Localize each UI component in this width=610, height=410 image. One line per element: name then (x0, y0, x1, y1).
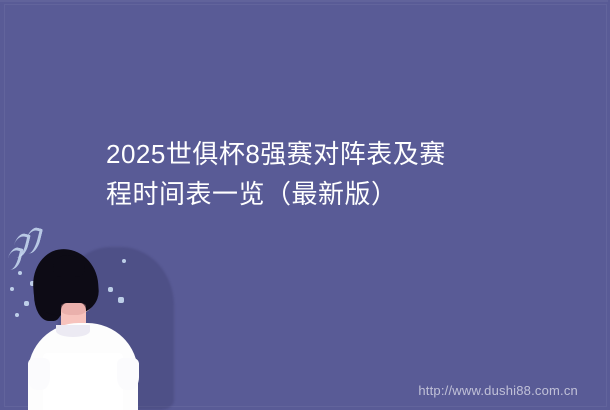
sparkle-dot-icon (118, 297, 124, 303)
title-line-2: 程时间表一览（最新版） (106, 174, 526, 214)
sparkle-dot-icon (108, 287, 113, 292)
sparkle-dot-icon (24, 301, 29, 306)
title-line-1: 2025世俱杯8强赛对阵表及赛 (106, 134, 526, 174)
tshirt-collar (56, 325, 90, 337)
sparkle-squiggle-icon (5, 246, 23, 271)
person-illustration (0, 225, 185, 410)
sparkle-dot-icon (122, 259, 126, 263)
top-edge-line (0, 0, 608, 2)
sparkle-dot-icon (18, 271, 22, 275)
article-cover-image: 2025世俱杯8强赛对阵表及赛 程时间表一览（最新版） http://www.d… (0, 0, 610, 410)
watermark-url: http://www.dushi88.com.cn (418, 383, 578, 398)
tshirt-body (43, 353, 123, 410)
neck-shadow (61, 303, 86, 315)
sleeve-left (28, 358, 50, 390)
sparkle-dot-icon (15, 313, 19, 317)
page-title: 2025世俱杯8强赛对阵表及赛 程时间表一览（最新版） (106, 134, 526, 214)
sleeve-right (117, 358, 139, 390)
sparkle-dot-icon (10, 287, 14, 291)
sparkle-squiggle-icon (23, 226, 43, 256)
